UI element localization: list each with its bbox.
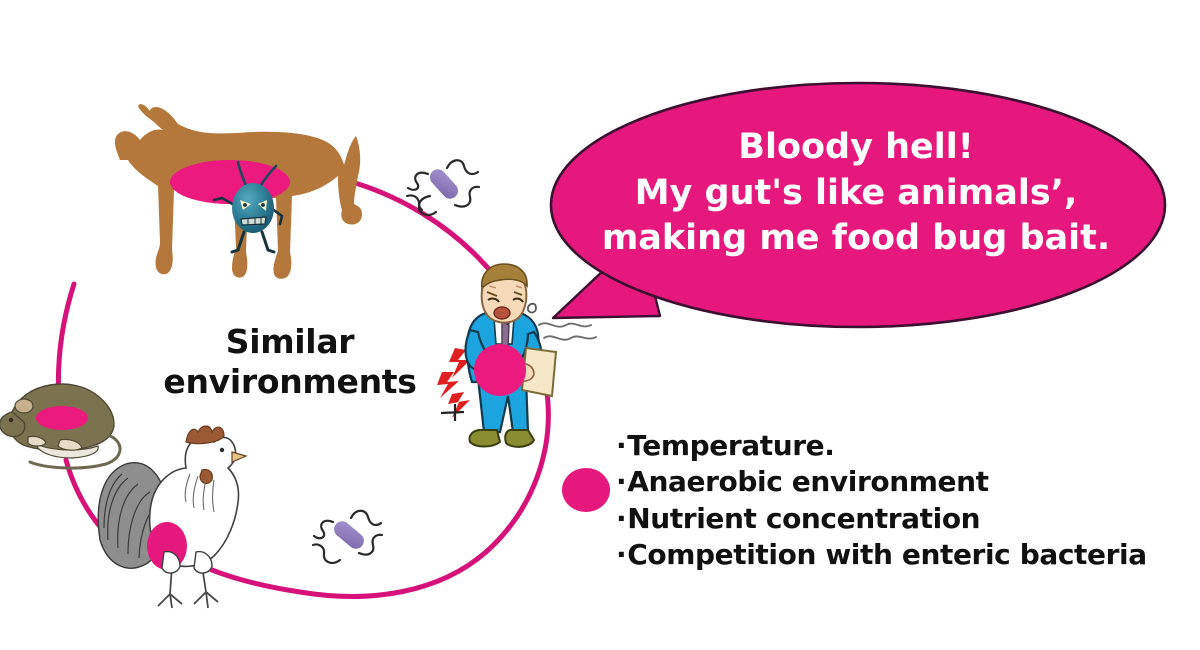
speech-bubble-line-3: making me food bug bait. xyxy=(566,216,1146,262)
center-caption-line-1: Similar xyxy=(140,322,440,362)
center-caption-line-2: environments xyxy=(140,362,440,402)
page-title: Similar environments xyxy=(140,322,440,403)
bullet-icon: · xyxy=(616,501,626,537)
list-item-label: Temperature. xyxy=(627,429,834,462)
list-item: ·Competition with enteric bacteria xyxy=(616,537,1147,573)
list-item: ·Anaerobic environment xyxy=(616,464,1147,500)
list-item-label: Anaerobic environment xyxy=(627,465,988,498)
figure-canvas: Bloody hell! My gut's like animals’, mak… xyxy=(0,0,1200,650)
bullet-icon: · xyxy=(616,464,626,500)
speech-bubble-line-2: My gut's like animals’, xyxy=(566,171,1146,217)
list-item: ·Nutrient concentration xyxy=(616,501,1147,537)
factor-list-marker-dot xyxy=(562,468,610,512)
bullet-icon: · xyxy=(616,537,626,573)
list-item: ·Temperature. xyxy=(616,428,1147,464)
list-item-label: Competition with enteric bacteria xyxy=(627,538,1146,571)
list-item-label: Nutrient concentration xyxy=(627,502,980,535)
speech-bubble-line-1: Bloody hell! xyxy=(566,125,1146,171)
speech-bubble-text: Bloody hell! My gut's like animals’, mak… xyxy=(566,125,1146,262)
factor-list: ·Temperature. ·Anaerobic environment ·Nu… xyxy=(616,428,1147,574)
bullet-icon: · xyxy=(616,428,626,464)
